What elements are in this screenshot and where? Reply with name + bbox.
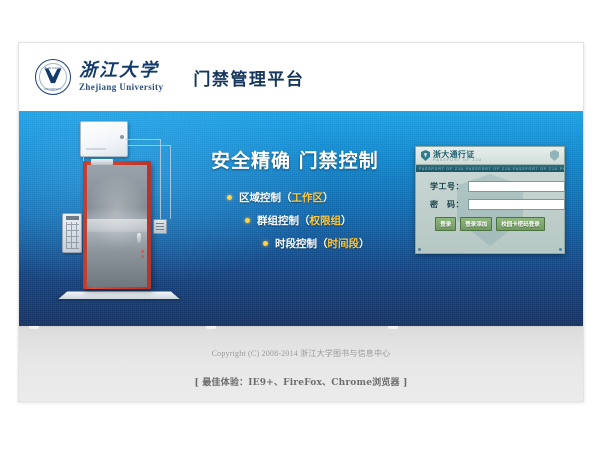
hero-banner: 安全精确 门禁控制 区域控制（工作区） 群组控制（权限组） 时段控制（时间段）	[19, 111, 583, 326]
feature-highlight: 时间段	[328, 236, 360, 251]
hero-headline: 安全精确 门禁控制	[211, 146, 421, 173]
bullet-dot-icon	[227, 195, 232, 200]
university-name-cn: 浙江大学	[79, 62, 163, 80]
feature-tail: ）	[359, 236, 370, 251]
university-name-block: 浙江大学 Zhejiang University	[79, 62, 163, 92]
password-label: 密 码：	[424, 199, 464, 210]
login-button[interactable]: 登录	[435, 217, 456, 231]
feature-highlight: 权限组	[310, 213, 342, 228]
feature-list: 区域控制（工作区） 群组控制（权限组） 时段控制（时间段）	[211, 190, 421, 251]
university-name-en: Zhejiang University	[79, 83, 163, 92]
door-leaf	[87, 165, 147, 287]
feature-tail: ）	[341, 213, 352, 228]
browser-support-text: [ 最佳体验：IE9+、FireFox、Chrome浏览器 ]	[19, 375, 583, 388]
footer-nub	[29, 326, 39, 329]
keypad-screen-icon	[66, 216, 79, 220]
keypad-reader-icon	[62, 213, 82, 253]
footer-nub	[206, 326, 216, 329]
feature-highlight: 工作区	[292, 190, 324, 205]
copyright-text: Copyright (C) 2008-2014 浙江大学图书与信息中心	[19, 327, 583, 359]
seal-bird-glyph	[45, 68, 62, 83]
username-label: 学工号：	[424, 181, 464, 192]
feature-label: 区域控制（	[239, 190, 292, 205]
floor-plane	[58, 292, 180, 300]
footer-nub	[388, 326, 398, 329]
username-row: 学工号：	[424, 181, 556, 192]
login-add-button[interactable]: 登录添加	[460, 217, 492, 231]
security-door-icon	[83, 161, 151, 289]
campus-card-login-button[interactable]: 校园卡密码登录	[496, 217, 545, 231]
door-indicator-light-icon	[141, 250, 144, 253]
page-card: ZHEJIANG UNIVERSITY 浙江大学 Zhejiang Univer…	[18, 42, 584, 402]
wire-controller-to-door-right	[160, 139, 161, 221]
hero-text-block: 安全精确 门禁控制 区域控制（工作区） 群组控制（权限组） 时段控制（时间段）	[211, 146, 421, 259]
feature-tail: ）	[323, 190, 334, 205]
bullet-dot-icon	[245, 218, 250, 223]
university-seal-icon: ZHEJIANG UNIVERSITY	[35, 59, 71, 95]
shield-icon	[550, 150, 559, 161]
door-controller-box-icon	[80, 121, 128, 157]
feature-label: 时段控制（	[275, 236, 328, 251]
login-panel-marquee: PASSPORT OF ZJU PASSPORT OF ZJU PASSPORT…	[416, 165, 564, 172]
site-footer: Copyright (C) 2008-2014 浙江大学图书与信息中心 [ 最佳…	[19, 326, 583, 402]
login-panel: 浙大通行证 PASSPORT OF ZJU PASSPORT OF ZJU PA…	[415, 146, 565, 254]
wire-controller-to-reader	[126, 145, 170, 146]
seal-bottom-text: UNIVERSITY	[44, 88, 62, 91]
card-reader-icon	[153, 219, 167, 234]
login-panel-header: 浙大通行证 PASSPORT OF ZJU	[416, 147, 564, 165]
password-row: 密 码：	[424, 199, 556, 210]
shield-icon	[421, 150, 430, 161]
keypad-buttons-icon	[66, 222, 79, 249]
panel-corner-dot	[418, 248, 421, 251]
login-buttons: 登录 登录添加 校园卡密码登录	[424, 217, 556, 231]
access-control-illustration	[45, 121, 185, 311]
door-handle-icon	[137, 233, 141, 243]
username-input[interactable]	[468, 181, 565, 192]
wire-reader-drop	[170, 145, 171, 219]
login-panel-subtitle: PASSPORT OF ZJU	[433, 158, 482, 162]
feature-item-group-control: 群组控制（权限组）	[245, 213, 421, 228]
password-input[interactable]	[468, 199, 565, 210]
door-band	[87, 219, 147, 232]
panel-corner-dot	[559, 248, 562, 251]
university-logo[interactable]: ZHEJIANG UNIVERSITY 浙江大学 Zhejiang Univer…	[35, 59, 163, 95]
site-header: ZHEJIANG UNIVERSITY 浙江大学 Zhejiang Univer…	[19, 43, 583, 111]
feature-item-time-control: 时段控制（时间段）	[263, 236, 421, 251]
login-form: 学工号： 密 码： 登录 登录添加 校园卡密码登录	[416, 172, 564, 231]
feature-label: 群组控制（	[257, 213, 310, 228]
wire-controller-to-door-top	[126, 139, 160, 140]
controller-slot-icon	[86, 148, 106, 150]
feature-item-area-control: 区域控制（工作区）	[227, 190, 421, 205]
controller-knob-icon	[120, 135, 124, 139]
page-title: 门禁管理平台	[193, 65, 304, 90]
bullet-dot-icon	[263, 241, 268, 246]
